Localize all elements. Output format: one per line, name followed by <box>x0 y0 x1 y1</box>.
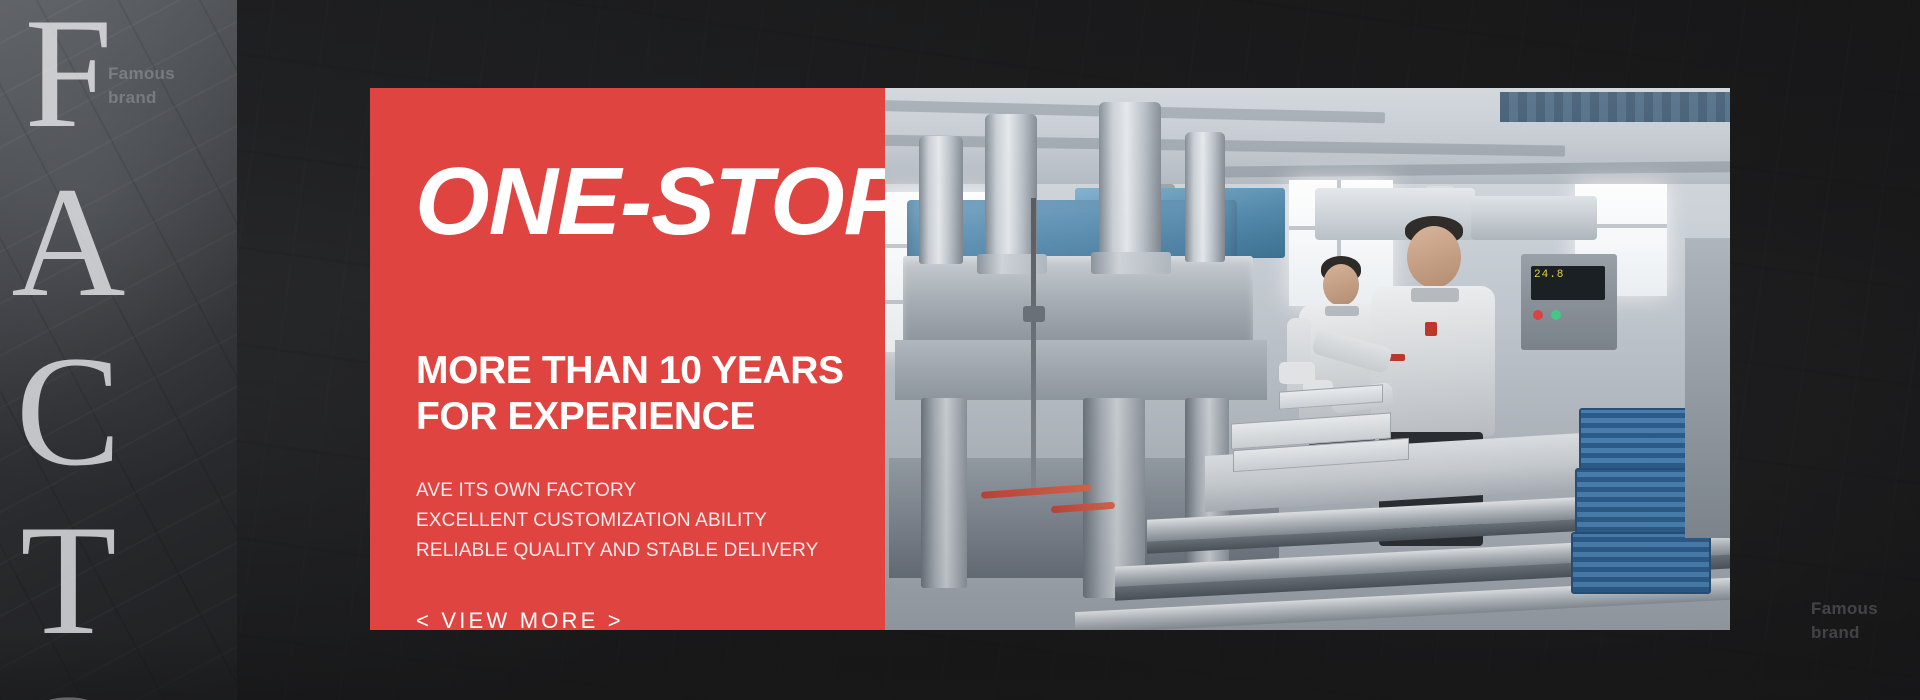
photo-crate <box>1571 532 1711 594</box>
list-item: RELIABLE QUALITY AND STABLE DELIVERY <box>416 536 818 566</box>
promo-banner: FACTORY Famous brand ONE-STOP MORE THAN … <box>0 0 1920 700</box>
photo-cylinder <box>985 114 1037 264</box>
photo-tile-strip <box>1500 92 1730 122</box>
promo-red-panel: ONE-STOP MORE THAN 10 YEARS FOR EXPERIEN… <box>370 88 885 630</box>
list-item: EXCELLENT CUSTOMIZATION ABILITY <box>416 506 818 536</box>
photo-gauge <box>1023 306 1045 322</box>
photo-rack <box>1685 238 1730 538</box>
list-item: AVE ITS OWN FACTORY <box>416 476 818 506</box>
photo-press-leg <box>921 398 967 588</box>
promo-bullet-list: AVE ITS OWN FACTORY EXCELLENT CUSTOMIZAT… <box>416 476 818 566</box>
watermark-line-2: brand <box>1811 621 1878 645</box>
photo-cylinder <box>1185 132 1225 262</box>
watermark-bottom-right: Famous brand <box>1811 597 1878 645</box>
promo-subheading: MORE THAN 10 YEARS FOR EXPERIENCE <box>416 348 844 440</box>
photo-press-platen <box>903 256 1253 348</box>
photo-cylinder <box>1099 102 1161 264</box>
photo-rod <box>1031 198 1036 498</box>
watermark-line-2: brand <box>108 86 175 110</box>
subheading-line-2: FOR EXPERIENCE <box>416 394 844 440</box>
left-vertical-band: FACTORY Famous brand <box>0 0 237 700</box>
view-more-button[interactable]: < VIEW MORE > <box>416 608 624 634</box>
factory-photo: 24.8 <box>885 88 1730 630</box>
watermark-line-1: Famous <box>1811 597 1878 621</box>
photo-cylinder-cap <box>1091 252 1171 274</box>
subheading-line-1: MORE THAN 10 YEARS <box>416 349 844 392</box>
photo-press-body <box>895 340 1267 400</box>
photo-cylinder <box>919 136 963 264</box>
photo-cylinder-cap <box>977 254 1047 274</box>
page-title: ONE-STOP <box>415 156 907 248</box>
watermark-top-left: Famous brand <box>108 62 175 110</box>
watermark-line-1: Famous <box>108 62 175 86</box>
